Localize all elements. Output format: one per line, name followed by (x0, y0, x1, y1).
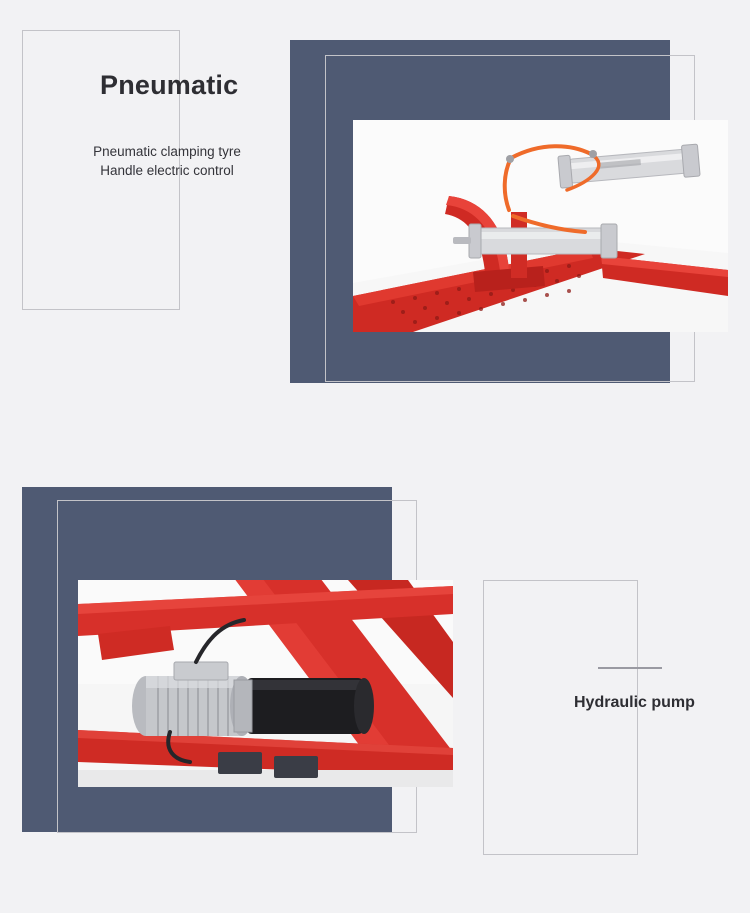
pneumatic-subtitle-line1: Pneumatic clamping tyre (62, 142, 272, 161)
pneumatic-title: Pneumatic (100, 70, 238, 101)
hydraulic-title-rule (598, 667, 662, 669)
hydraulic-pump-photo-artwork (78, 580, 453, 787)
pneumatic-photo (353, 120, 728, 332)
pneumatic-subtitle: Pneumatic clamping tyre Handle electric … (62, 142, 272, 180)
pneumatic-photo-artwork (353, 120, 728, 332)
hydraulic-pump-photo (78, 580, 453, 787)
hydraulic-title: Hydraulic pump (574, 694, 695, 712)
product-feature-page: Pneumatic Pneumatic clamping tyre Handle… (0, 0, 750, 913)
hydraulic-decorative-frame (483, 580, 638, 855)
pneumatic-subtitle-line2: Handle electric control (62, 161, 272, 180)
